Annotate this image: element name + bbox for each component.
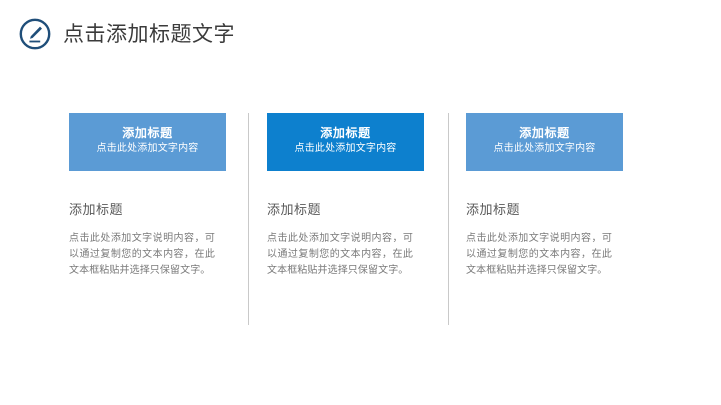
slide-canvas: 点击添加标题文字 添加标题 点击此处添加文字内容 添加标题 点击此处添加文字说明…	[0, 0, 721, 405]
pencil-circle-icon	[18, 17, 52, 51]
banner-title-3: 添加标题	[519, 126, 569, 141]
banner-subtitle-3: 点击此处添加文字内容	[494, 142, 596, 156]
body-heading-1: 添加标题	[69, 203, 267, 219]
column-2: 添加标题 点击此处添加文字内容 添加标题 点击此处添加文字说明内容，可以通过复制…	[267, 113, 465, 279]
body-paragraph-3: 点击此处添加文字说明内容，可以通过复制您的文本内容，在此文本框粘贴并选择只保留文…	[466, 231, 612, 280]
body-paragraph-1: 点击此处添加文字说明内容，可以通过复制您的文本内容，在此文本框粘贴并选择只保留文…	[69, 231, 215, 280]
body-heading-3: 添加标题	[466, 203, 664, 219]
columns-container: 添加标题 点击此处添加文字内容 添加标题 点击此处添加文字说明内容，可以通过复制…	[0, 113, 721, 328]
banner-card-3[interactable]: 添加标题 点击此处添加文字内容	[466, 113, 623, 171]
slide-header: 点击添加标题文字	[18, 14, 235, 54]
page-title: 点击添加标题文字	[63, 24, 235, 45]
banner-title-2: 添加标题	[320, 126, 370, 141]
body-heading-2: 添加标题	[267, 203, 465, 219]
body-paragraph-2: 点击此处添加文字说明内容，可以通过复制您的文本内容，在此文本框粘贴并选择只保留文…	[267, 231, 413, 280]
column-1: 添加标题 点击此处添加文字内容 添加标题 点击此处添加文字说明内容，可以通过复制…	[69, 113, 267, 279]
banner-subtitle-2: 点击此处添加文字内容	[295, 142, 397, 156]
column-3: 添加标题 点击此处添加文字内容 添加标题 点击此处添加文字说明内容，可以通过复制…	[466, 113, 664, 279]
banner-subtitle-1: 点击此处添加文字内容	[97, 142, 199, 156]
banner-card-2[interactable]: 添加标题 点击此处添加文字内容	[267, 113, 424, 171]
banner-card-1[interactable]: 添加标题 点击此处添加文字内容	[69, 113, 226, 171]
banner-title-1: 添加标题	[122, 126, 172, 141]
